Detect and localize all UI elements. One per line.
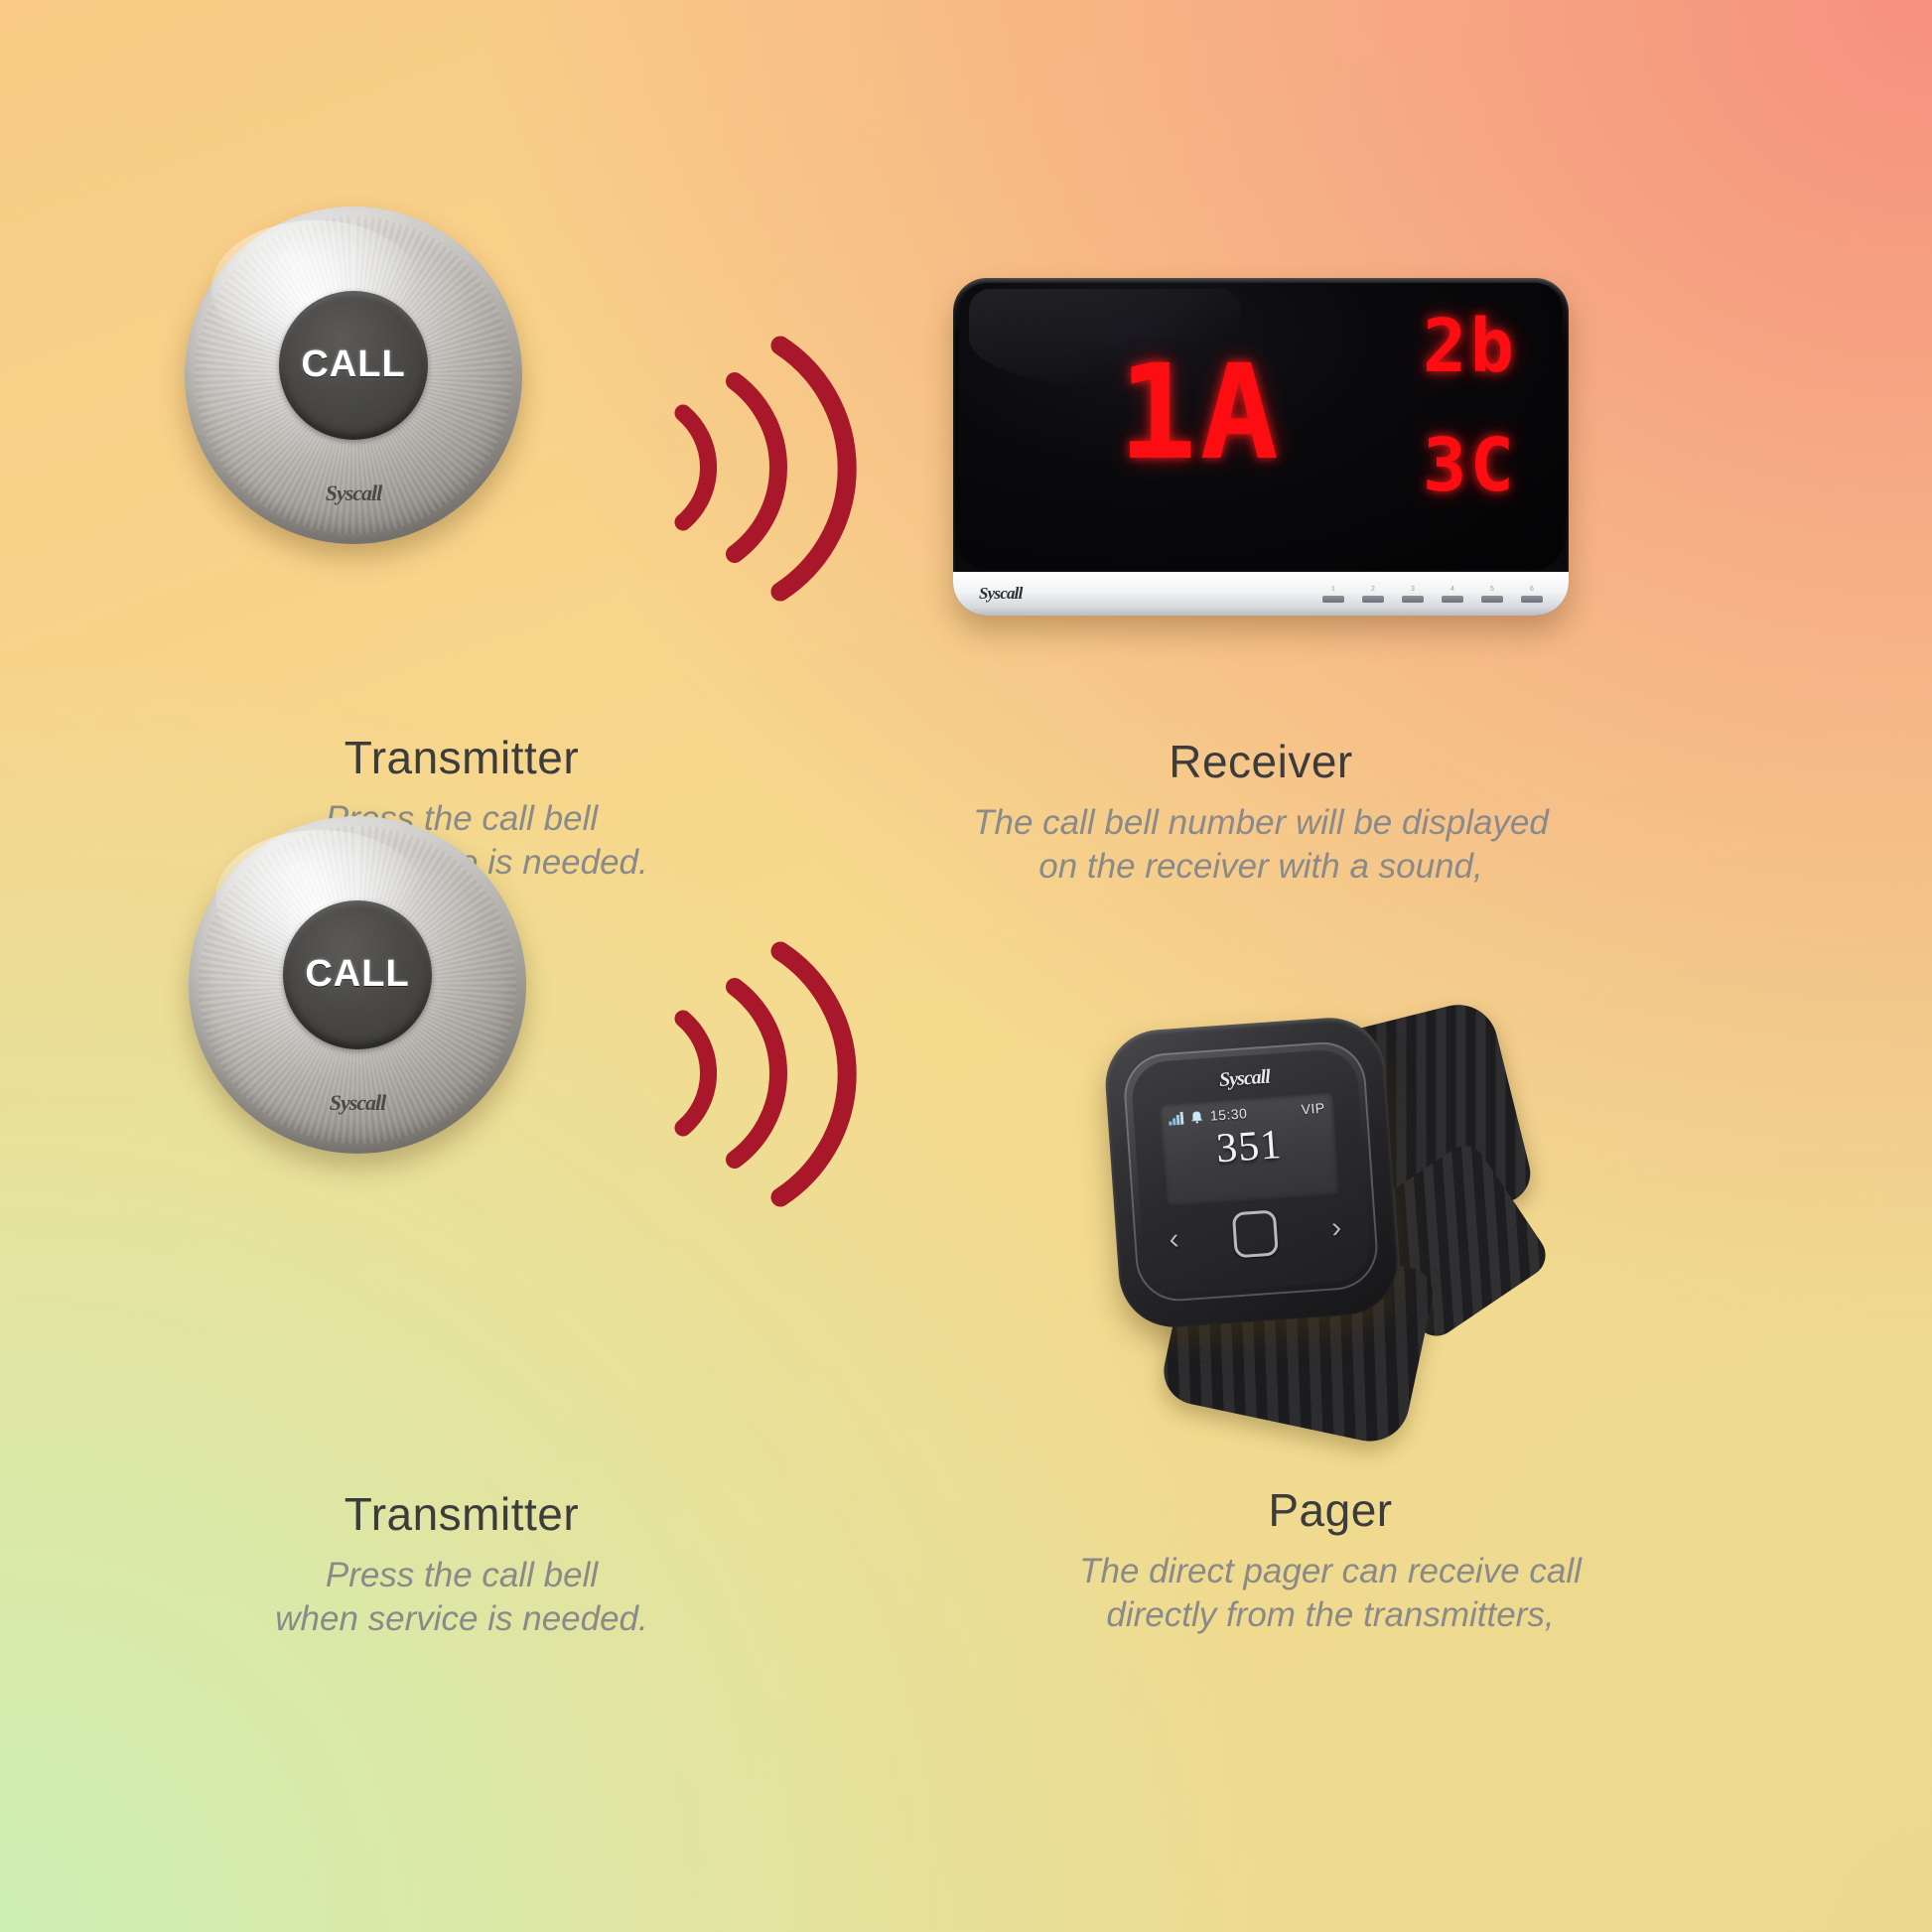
panel-title: Transmitter [119,733,804,783]
pager-tag: VIP [1301,1100,1325,1118]
receiver-body[interactable]: 1A 2b 3C Syscall 1 2 3 4 5 6 [953,278,1569,616]
pager-status-bar: 15:30 VIP [1159,1099,1334,1127]
receiver-secondary-number-1: 2b [1423,310,1517,383]
transmitter-bottom-device[interactable]: CALL Syscall [189,816,526,1154]
wave-arc-3 [780,345,847,592]
receiver-key-pad[interactable] [1521,596,1543,603]
receiver-key[interactable]: 1 [1322,586,1344,603]
bell-icon [1189,1110,1205,1124]
syscall-logo: Syscall [326,481,382,506]
syscall-logo: Syscall [330,1090,386,1116]
receiver-key-label: 5 [1490,586,1494,593]
call-button-body[interactable]: CALL Syscall [185,207,522,544]
transmitter-bottom-caption: Transmitter Press the call bell when ser… [119,1489,804,1642]
receiver-key-label: 6 [1530,586,1534,593]
receiver-key-pad[interactable] [1481,596,1503,603]
receiver-key[interactable]: 3 [1402,586,1424,603]
diagram-stage: CALL Syscall Transmitter Press the call … [0,0,1932,1932]
wave-arc-3 [780,951,847,1197]
panel-description: Press the call bell when service is need… [119,1554,804,1643]
pager-prev-button[interactable]: ‹ [1168,1224,1179,1255]
transmitter-top-device[interactable]: CALL Syscall [185,207,522,544]
pager-next-button[interactable]: › [1330,1213,1342,1244]
receiver-key-pad[interactable] [1322,596,1344,603]
receiver-device[interactable]: 1A 2b 3C Syscall 1 2 3 4 5 6 [953,278,1569,616]
receiver-key-pad[interactable] [1362,596,1384,603]
pager-call-number: 351 [1215,1124,1284,1171]
receiver-key[interactable]: 4 [1442,586,1463,603]
pager-watch[interactable]: Syscall [1082,998,1499,1435]
wave-arc-1 [683,413,709,522]
receiver-key-label: 3 [1411,586,1415,593]
panel-description: The call bell number will be displayed o… [814,801,1708,891]
receiver-keypad[interactable]: 1 2 3 4 5 6 [1322,586,1543,603]
wave-arc-1 [683,1019,709,1128]
pager-face: Syscall [1130,1047,1372,1295]
panel-title: Pager [854,1485,1807,1536]
call-button-center[interactable]: CALL [283,900,432,1049]
call-button-center[interactable]: CALL [279,291,428,440]
pager-device[interactable]: Syscall [1082,998,1499,1435]
panel-title: Receiver [814,737,1708,787]
syscall-logo: Syscall [979,584,1023,604]
receiver-key[interactable]: 6 [1521,586,1543,603]
syscall-logo: Syscall [1218,1066,1270,1092]
panel-description: The direct pager can receive call direct… [854,1550,1807,1639]
wave-arc-2 [735,987,778,1160]
receiver-key-label: 2 [1371,586,1375,593]
receiver-key[interactable]: 2 [1362,586,1384,603]
pager-keypad[interactable]: ‹ › [1160,1204,1351,1263]
receiver-secondary-number-2: 3C [1423,429,1517,502]
pager-lcd: 15:30 VIP 351 [1159,1092,1340,1207]
receiver-main-number: 1A [1118,347,1282,479]
call-button-body[interactable]: CALL Syscall [189,816,526,1154]
call-button-label: CALL [305,953,409,996]
receiver-key-pad[interactable] [1402,596,1424,603]
pager-select-button[interactable] [1232,1209,1279,1258]
panel-title: Transmitter [119,1489,804,1540]
wave-arc-2 [735,381,778,554]
receiver-key[interactable]: 5 [1481,586,1503,603]
receiver-key-label: 1 [1331,586,1335,593]
receiver-caption: Receiver The call bell number will be di… [814,737,1708,890]
call-button-label: CALL [301,344,405,386]
pager-time: 15:30 [1209,1105,1248,1124]
radio-waves-top [655,328,844,606]
receiver-key-label: 4 [1450,586,1454,593]
receiver-key-pad[interactable] [1442,596,1463,603]
pager-caption: Pager The direct pager can receive call … [854,1485,1807,1638]
radio-waves-bottom [655,933,844,1211]
pager-case[interactable]: Syscall [1102,1015,1402,1331]
receiver-base-bar: Syscall 1 2 3 4 5 6 [953,572,1569,616]
signal-bars-icon [1169,1111,1184,1125]
pager-bezel: Syscall [1122,1039,1381,1304]
